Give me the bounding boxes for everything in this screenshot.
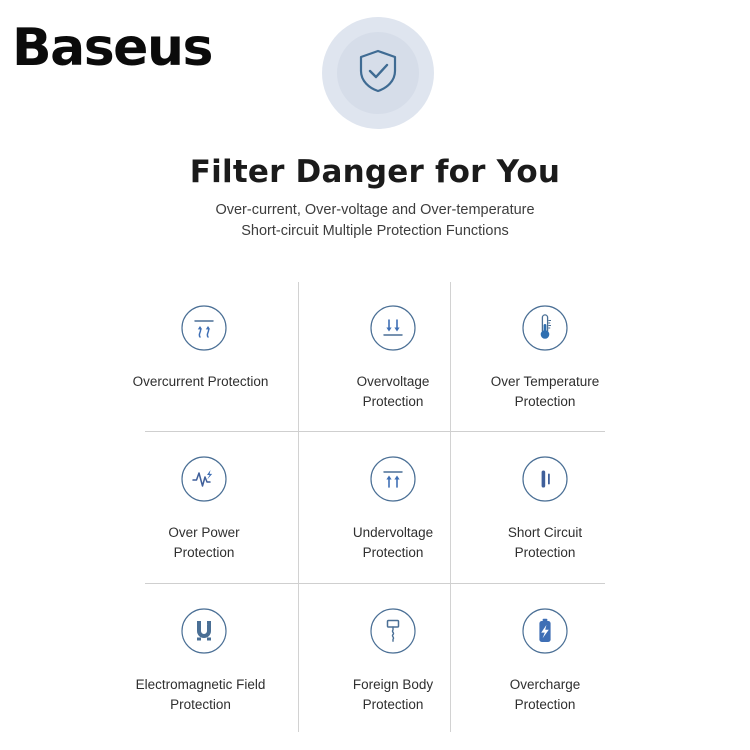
- feature-label: Electromagnetic FieldProtection: [101, 675, 301, 716]
- page-subtitle: Over-current, Over-voltage and Over-temp…: [0, 200, 750, 242]
- overcharge-icon: [521, 607, 569, 655]
- foreign-body-icon: [369, 607, 417, 655]
- over-power-icon: [180, 455, 228, 503]
- feature-item-overcurrent: Overcurrent Protection: [110, 282, 298, 432]
- feature-label: Overcurrent Protection: [101, 372, 301, 392]
- shield-badge-inner: [337, 32, 419, 114]
- feature-grid: Overcurrent Protection OvervoltageProtec…: [110, 282, 640, 742]
- feature-item-electromagnetic-field: Electromagnetic FieldProtection: [110, 585, 298, 735]
- feature-item-over-power: Over PowerProtection: [110, 433, 298, 583]
- electromagnetic-field-icon: [180, 607, 228, 655]
- page-title: Filter Danger for You: [0, 154, 750, 190]
- feature-label: Over PowerProtection: [111, 523, 297, 564]
- undervoltage-icon: [369, 455, 417, 503]
- shield-check-icon: [355, 47, 401, 100]
- grid-divider-horizontal-2: [145, 583, 605, 584]
- brand-logo: Baseus: [12, 22, 212, 74]
- infographic-page: Baseus Filter Danger for You Over-curren…: [0, 0, 750, 750]
- over-temperature-icon: [521, 304, 569, 352]
- overvoltage-icon: [369, 304, 417, 352]
- feature-label: Over TemperatureProtection: [452, 372, 638, 413]
- subtitle-line-1: Over-current, Over-voltage and Over-temp…: [0, 200, 750, 221]
- feature-item-over-temperature: Over TemperatureProtection: [451, 282, 639, 432]
- overcurrent-icon: [180, 304, 228, 352]
- feature-label: OverchargeProtection: [452, 675, 638, 716]
- feature-item-short-circuit: Short CircuitProtection: [451, 433, 639, 583]
- short-circuit-icon: [521, 455, 569, 503]
- shield-badge: [322, 17, 434, 129]
- subtitle-line-2: Short-circuit Multiple Protection Functi…: [0, 221, 750, 242]
- feature-item-overcharge: OverchargeProtection: [451, 585, 639, 735]
- feature-label: Short CircuitProtection: [452, 523, 638, 564]
